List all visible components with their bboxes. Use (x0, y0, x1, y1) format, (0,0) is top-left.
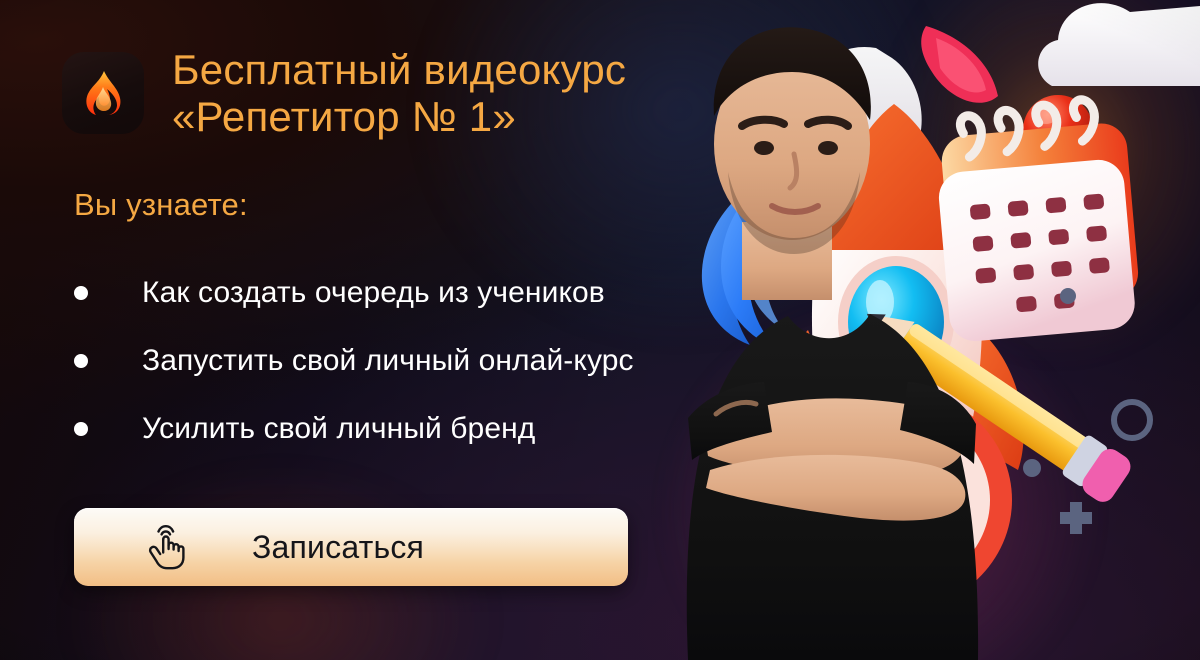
vignette-overlay (0, 0, 1200, 660)
promo-banner: Бесплатный видеокурс «Репетитор № 1» Вы … (0, 0, 1200, 660)
